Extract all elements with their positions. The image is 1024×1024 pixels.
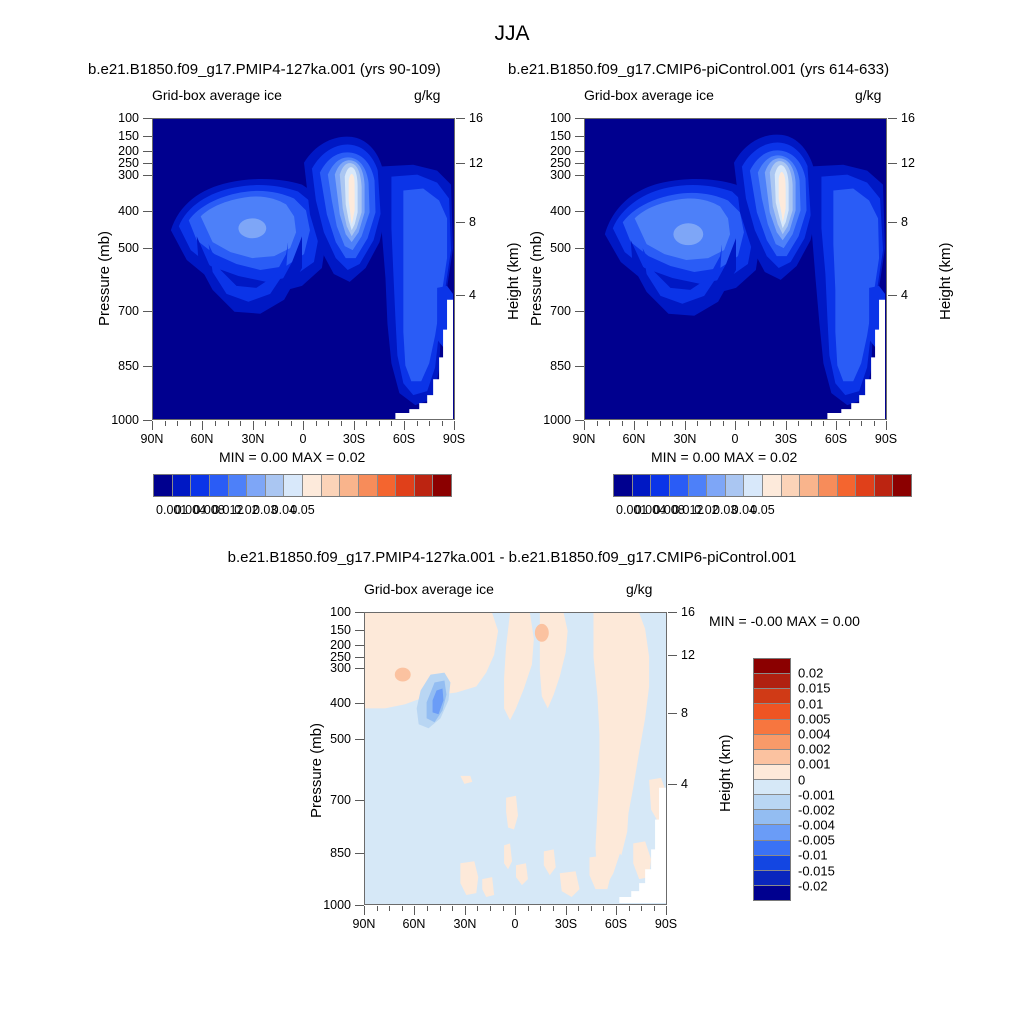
tick-label-x: 0 [495, 917, 535, 931]
colorbar-segment [754, 750, 790, 765]
tick-label-y2: 8 [681, 706, 688, 720]
colorbar-segment [754, 720, 790, 735]
colorbar-tick-label: 0.004 [798, 726, 831, 741]
colorbar-segment [893, 475, 911, 496]
colorbar-segment [322, 475, 341, 496]
colorbar-segment [744, 475, 763, 496]
diff-y-axis-title: Pressure (mb) [308, 723, 325, 818]
colorbar-segment [754, 659, 790, 674]
colorbar-segment [754, 689, 790, 704]
colorbar-segment [754, 674, 790, 689]
colorbar-segment [726, 475, 745, 496]
tick-label-x: 60N [182, 432, 222, 446]
colorbar-segment [651, 475, 670, 496]
diff-y2-axis-title: Height (km) [717, 734, 734, 812]
colorbar-tick-label: 0.01 [798, 696, 823, 711]
tick-label-y: 300 [103, 168, 139, 182]
colorbar-segment [754, 856, 790, 871]
colorbar-segment [754, 825, 790, 840]
colorbar-segment [303, 475, 322, 496]
tick-label-y2: 4 [681, 777, 688, 791]
colorbar-segment [266, 475, 285, 496]
tick-label-y2: 16 [469, 111, 483, 125]
tick-label-y: 400 [535, 204, 571, 218]
top-right-colorbar[interactable] [613, 474, 912, 497]
colorbar-segment [433, 475, 451, 496]
tick-label-x: 30S [546, 917, 586, 931]
diff-colorbar[interactable] [753, 658, 791, 901]
colorbar-segment [378, 475, 397, 496]
tick-label-x: 30N [233, 432, 273, 446]
colorbar-segment [754, 765, 790, 780]
colorbar-tick-label: -0.002 [798, 802, 835, 817]
colorbar-segment [173, 475, 192, 496]
colorbar-segment [782, 475, 801, 496]
tick-label-y2: 16 [901, 111, 915, 125]
colorbar-tick-label: 0.002 [798, 742, 831, 757]
tick-label-y: 1000 [97, 413, 139, 427]
tick-label-y: 100 [103, 111, 139, 125]
tick-label-y: 850 [103, 359, 139, 373]
top-right-contour-field [585, 119, 886, 419]
top-left-colorbar-labels: 0.0010.0040.0080.0120.020.030.040.05 [153, 503, 452, 519]
colorbar-tick-label: -0.001 [798, 787, 835, 802]
diff-contour-field [365, 613, 666, 904]
top-left-y2-axis-title: Height (km) [505, 242, 522, 320]
tick-label-x: 30N [665, 432, 705, 446]
tick-label-x: 60N [394, 917, 434, 931]
colorbar-segment [838, 475, 857, 496]
colorbar-tick-label: -0.015 [798, 863, 835, 878]
top-left-colorbar[interactable] [153, 474, 452, 497]
tick-label-y2: 16 [681, 605, 695, 619]
tick-label-x: 90S [434, 432, 474, 446]
colorbar-tick-label: 0.005 [798, 711, 831, 726]
tick-label-y: 100 [535, 111, 571, 125]
colorbar-segment [359, 475, 378, 496]
colorbar-segment [670, 475, 689, 496]
top-right-minmax: MIN = 0.00 MAX = 0.02 [651, 449, 797, 465]
top-left-panel-title: b.e21.B1850.f09_g17.PMIP4-127ka.001 (yrs… [88, 61, 441, 78]
tick-label-x: 90N [564, 432, 604, 446]
colorbar-segment [819, 475, 838, 496]
tick-label-x: 30N [445, 917, 485, 931]
colorbar-segment [614, 475, 633, 496]
tick-label-x: 90S [866, 432, 906, 446]
diff-minmax: MIN = -0.00 MAX = 0.00 [709, 613, 860, 629]
tick-label-y: 100 [315, 605, 351, 619]
top-left-y-axis-title: Pressure (mb) [96, 231, 113, 326]
colorbar-segment [754, 886, 790, 900]
tick-label-y: 150 [103, 129, 139, 143]
colorbar-segment [191, 475, 210, 496]
tick-label-x: 60S [384, 432, 424, 446]
tick-label-y2: 8 [901, 215, 908, 229]
colorbar-segment [800, 475, 819, 496]
colorbar-tick-label: 0.05 [290, 503, 314, 517]
top-right-units-label: g/kg [855, 87, 881, 103]
season-title: JJA [0, 22, 1024, 46]
colorbar-segment [754, 795, 790, 810]
colorbar-segment [229, 475, 248, 496]
colorbar-tick-label: 0.015 [798, 681, 831, 696]
tick-label-y2: 4 [469, 288, 476, 302]
colorbar-segment [247, 475, 266, 496]
tick-label-y2: 4 [901, 288, 908, 302]
diff-variable-label: Grid-box average ice [364, 581, 494, 597]
tick-label-x: 60N [614, 432, 654, 446]
tick-label-y2: 12 [901, 156, 915, 170]
colorbar-segment [754, 704, 790, 719]
colorbar-segment [284, 475, 303, 496]
colorbar-segment [154, 475, 173, 496]
tick-label-y: 300 [535, 168, 571, 182]
tick-label-x: 30S [766, 432, 806, 446]
top-right-plot[interactable] [584, 118, 887, 420]
tick-label-x: 60S [596, 917, 636, 931]
top-left-units-label: g/kg [414, 87, 440, 103]
colorbar-tick-label: -0.01 [798, 848, 828, 863]
diff-units-label: g/kg [626, 581, 652, 597]
colorbar-tick-label: 0.001 [798, 757, 831, 772]
tick-label-y: 400 [315, 696, 351, 710]
tick-label-y: 1000 [309, 898, 351, 912]
colorbar-tick-label: 0.05 [750, 503, 774, 517]
colorbar-segment [689, 475, 708, 496]
colorbar-segment [754, 780, 790, 795]
tick-label-x: 90N [132, 432, 172, 446]
colorbar-segment [754, 871, 790, 886]
tick-label-x: 90N [344, 917, 384, 931]
top-right-y-axis-title: Pressure (mb) [528, 231, 545, 326]
colorbar-segment [763, 475, 782, 496]
tick-label-y: 400 [103, 204, 139, 218]
top-left-plot[interactable] [152, 118, 455, 420]
colorbar-segment [754, 735, 790, 750]
tick-label-x: 90S [646, 917, 686, 931]
tick-label-y: 300 [315, 661, 351, 675]
tick-label-x: 60S [816, 432, 856, 446]
colorbar-segment [754, 841, 790, 856]
colorbar-segment [875, 475, 894, 496]
top-right-variable-label: Grid-box average ice [584, 87, 714, 103]
colorbar-segment [340, 475, 359, 496]
tick-label-y: 850 [315, 846, 351, 860]
colorbar-tick-label: 0 [798, 772, 805, 787]
top-right-colorbar-labels: 0.0010.0040.0080.0120.020.030.040.05 [613, 503, 912, 519]
tick-label-y: 150 [535, 129, 571, 143]
tick-label-x: 0 [283, 432, 323, 446]
diff-panel-title: b.e21.B1850.f09_g17.PMIP4-127ka.001 - b.… [0, 549, 1024, 566]
colorbar-segment [415, 475, 434, 496]
colorbar-segment [210, 475, 229, 496]
top-right-y2-axis-title: Height (km) [937, 242, 954, 320]
colorbar-segment [856, 475, 875, 496]
top-left-minmax: MIN = 0.00 MAX = 0.02 [219, 449, 365, 465]
tick-label-x: 0 [715, 432, 755, 446]
colorbar-tick-label: -0.004 [798, 818, 835, 833]
colorbar-tick-label: -0.005 [798, 833, 835, 848]
top-right-panel-title: b.e21.B1850.f09_g17.CMIP6-piControl.001 … [508, 61, 889, 78]
tick-label-y: 850 [535, 359, 571, 373]
diff-colorbar-labels: 0.020.0150.010.0050.0040.0020.0010-0.001… [798, 658, 858, 901]
colorbar-segment [707, 475, 726, 496]
colorbar-tick-label: 0.02 [798, 666, 823, 681]
colorbar-segment [633, 475, 652, 496]
colorbar-segment [396, 475, 415, 496]
tick-label-y: 150 [315, 623, 351, 637]
tick-label-y2: 12 [681, 648, 695, 662]
tick-label-y: 1000 [529, 413, 571, 427]
top-left-variable-label: Grid-box average ice [152, 87, 282, 103]
diff-plot[interactable] [364, 612, 667, 905]
tick-label-y2: 12 [469, 156, 483, 170]
colorbar-tick-label: -0.02 [798, 878, 828, 893]
colorbar-segment [754, 810, 790, 825]
tick-label-y2: 8 [469, 215, 476, 229]
tick-label-x: 30S [334, 432, 374, 446]
top-left-contour-field [153, 119, 454, 419]
